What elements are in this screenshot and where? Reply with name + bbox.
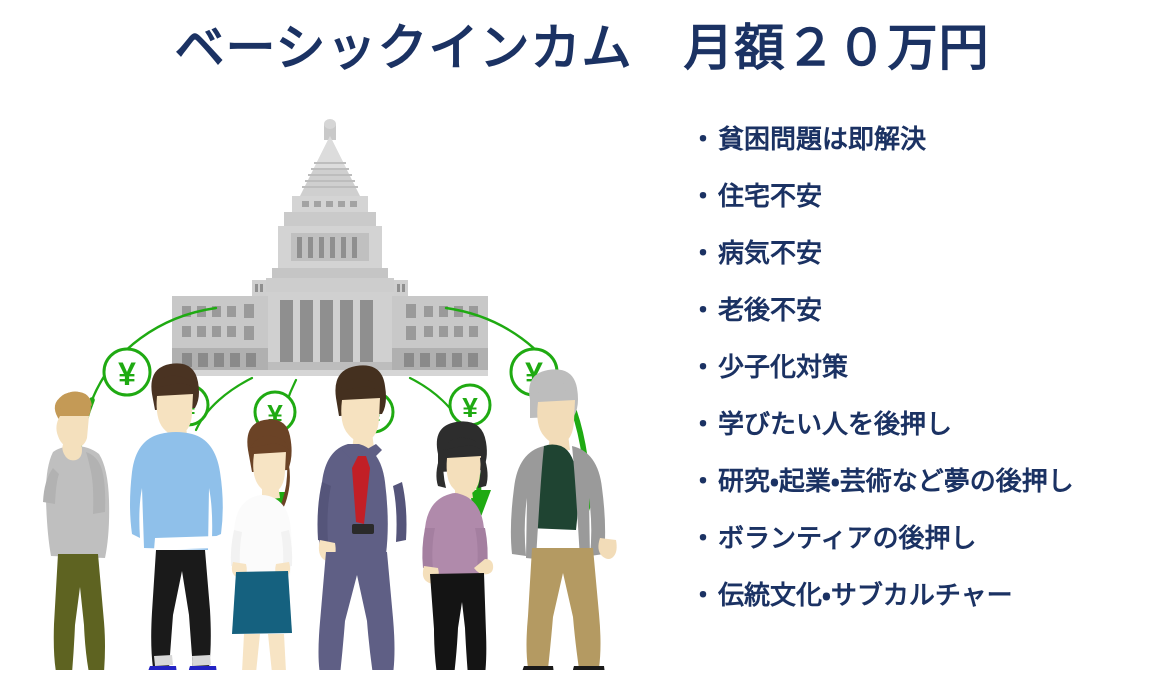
person-woman-blouse-skirt (231, 419, 292, 670)
benefits-list: ・ 貧困問題は即解決 ・ 住宅不安 ・ 病気不安 ・ 老後不安 ・ 少子化対策 … (690, 122, 1160, 635)
yen-coin-icon-5: ¥ (450, 385, 490, 425)
list-item: ・ 学びたい人を後押し (690, 407, 1160, 464)
list-item: ・ 少子化対策 (690, 350, 1160, 407)
bullet-marker: ・ (690, 464, 716, 498)
bullet-marker: ・ (690, 179, 716, 213)
list-item-label: 研究・起業・芸術など夢の後押し (718, 464, 1074, 498)
bullet-marker: ・ (690, 236, 716, 270)
bullet-marker: ・ (690, 578, 716, 612)
list-item: ・ 老後不安 (690, 293, 1160, 350)
list-item: ・ ボランティアの後押し (690, 521, 1160, 578)
list-item: ・ 研究・起業・芸術など夢の後押し (690, 464, 1160, 521)
list-item: ・ 住宅不安 (690, 179, 1160, 236)
list-item-label: 伝統文化・サブカルチャー (718, 578, 1013, 612)
person-elderly-man-jacket (511, 369, 617, 670)
bullet-marker: ・ (690, 350, 716, 384)
bullet-marker: ・ (690, 521, 716, 555)
svg-text:¥: ¥ (118, 356, 136, 392)
list-item-label: 住宅不安 (718, 179, 822, 213)
list-item-label: ボランティアの後押し (718, 521, 976, 555)
list-item: ・ 貧困問題は即解決 (690, 122, 1160, 179)
svg-text:¥: ¥ (462, 392, 478, 423)
page-title: ベーシックインカム 月額２０万円 (0, 18, 1164, 78)
yen-coin-icon-1: ¥ (104, 349, 150, 395)
list-item-label: 少子化対策 (718, 350, 848, 384)
list-item: ・ 病気不安 (690, 236, 1160, 293)
list-item-label: 学びたい人を後押し (718, 407, 952, 441)
national-diet-building (172, 119, 488, 376)
bullet-marker: ・ (690, 293, 716, 327)
bullet-marker: ・ (690, 122, 716, 156)
person-older-woman-mauve (422, 421, 493, 670)
bullet-marker: ・ (690, 407, 716, 441)
list-item: ・ 伝統文化・サブカルチャー (690, 578, 1160, 635)
person-young-woman-hoodie (43, 392, 118, 671)
basic-income-illustration: ¥ ¥ ¥ ¥ ¥ (0, 100, 660, 670)
list-item-label: 貧困問題は即解決 (718, 122, 926, 156)
slide-canvas: ベーシックインカム 月額２０万円 (0, 0, 1164, 680)
list-item-label: 老後不安 (718, 293, 822, 327)
list-item-label: 病気不安 (718, 236, 822, 270)
